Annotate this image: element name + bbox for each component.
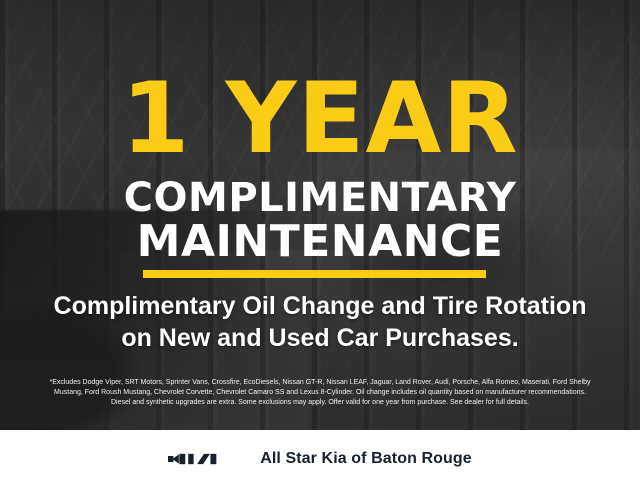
kia-logo-icon <box>168 449 242 469</box>
advertisement-banner: 1 YEAR COMPLIMENTARY MAINTENANCE Complim… <box>0 0 640 488</box>
yellow-divider-bar <box>143 270 486 278</box>
disclaimer-line-2: Mustang, Ford Roush Mustang, Chevrolet C… <box>14 388 626 398</box>
headline-line-2: COMPLIMENTARY <box>0 176 640 220</box>
disclaimer-line-3: Diesel and synthetic upgrades are extra.… <box>14 398 626 408</box>
dealer-footer: All Star Kia of Baton Rouge <box>0 430 640 488</box>
hero-section: 1 YEAR COMPLIMENTARY MAINTENANCE Complim… <box>0 0 640 430</box>
disclaimer-line-1: *Excludes Dodge Viper, SRT Motors, Sprin… <box>14 378 626 388</box>
hero-content: 1 YEAR COMPLIMENTARY MAINTENANCE Complim… <box>0 0 640 430</box>
dealer-name: All Star Kia of Baton Rouge <box>260 450 472 468</box>
headline-line-1: 1 YEAR <box>0 70 640 168</box>
subheadline: Complimentary Oil Change and Tire Rotati… <box>0 290 640 354</box>
disclaimer-text: *Excludes Dodge Viper, SRT Motors, Sprin… <box>14 378 626 408</box>
subheadline-line-1: Complimentary Oil Change and Tire Rotati… <box>0 290 640 322</box>
subheadline-line-2: on New and Used Car Purchases. <box>0 322 640 354</box>
headline-line-3: MAINTENANCE <box>0 218 640 266</box>
